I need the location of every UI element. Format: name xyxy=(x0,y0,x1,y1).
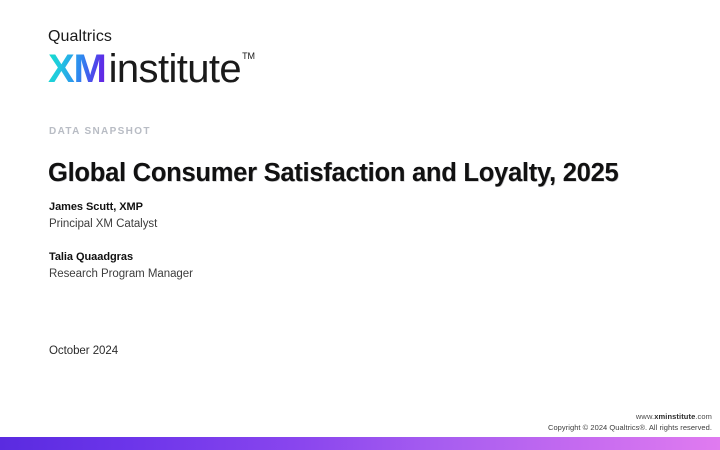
title-slide: Qualtrics XM institute TM DATA SNAPSHOT … xyxy=(0,0,720,450)
xm-gradient-mark: XM xyxy=(48,48,106,90)
page-title: Global Consumer Satisfaction and Loyalty… xyxy=(48,159,618,188)
document-type-eyebrow: DATA SNAPSHOT xyxy=(49,126,151,137)
qualtrics-xm-institute-logo: Qualtrics XM institute TM xyxy=(48,28,255,90)
author-name: Talia Quaadgras xyxy=(49,250,193,266)
author-role: Research Program Manager xyxy=(49,266,193,283)
xm-institute-wordmark: XM institute TM xyxy=(48,48,255,90)
url-brand: xminstitute xyxy=(654,412,695,421)
copyright-notice: Copyright © 2024 Qualtrics®. All rights … xyxy=(548,423,712,433)
trademark-icon: TM xyxy=(242,52,255,61)
author-role: Principal XM Catalyst xyxy=(49,216,193,233)
publication-date: October 2024 xyxy=(49,345,118,357)
author-name: James Scutt, XMP xyxy=(49,200,193,216)
url-suffix: .com xyxy=(695,412,712,421)
url-prefix: www. xyxy=(636,412,654,421)
author-entry: James Scutt, XMP Principal XM Catalyst xyxy=(49,200,193,233)
institute-text: institute xyxy=(109,48,241,90)
website-url[interactable]: www.xminstitute.com xyxy=(548,412,712,422)
author-entry: Talia Quaadgras Research Program Manager xyxy=(49,250,193,283)
footer: www.xminstitute.com Copyright © 2024 Qua… xyxy=(548,412,712,433)
brand-gradient-bar xyxy=(0,437,720,450)
qualtrics-wordmark: Qualtrics xyxy=(48,28,255,46)
author-list: James Scutt, XMP Principal XM Catalyst T… xyxy=(49,200,193,282)
